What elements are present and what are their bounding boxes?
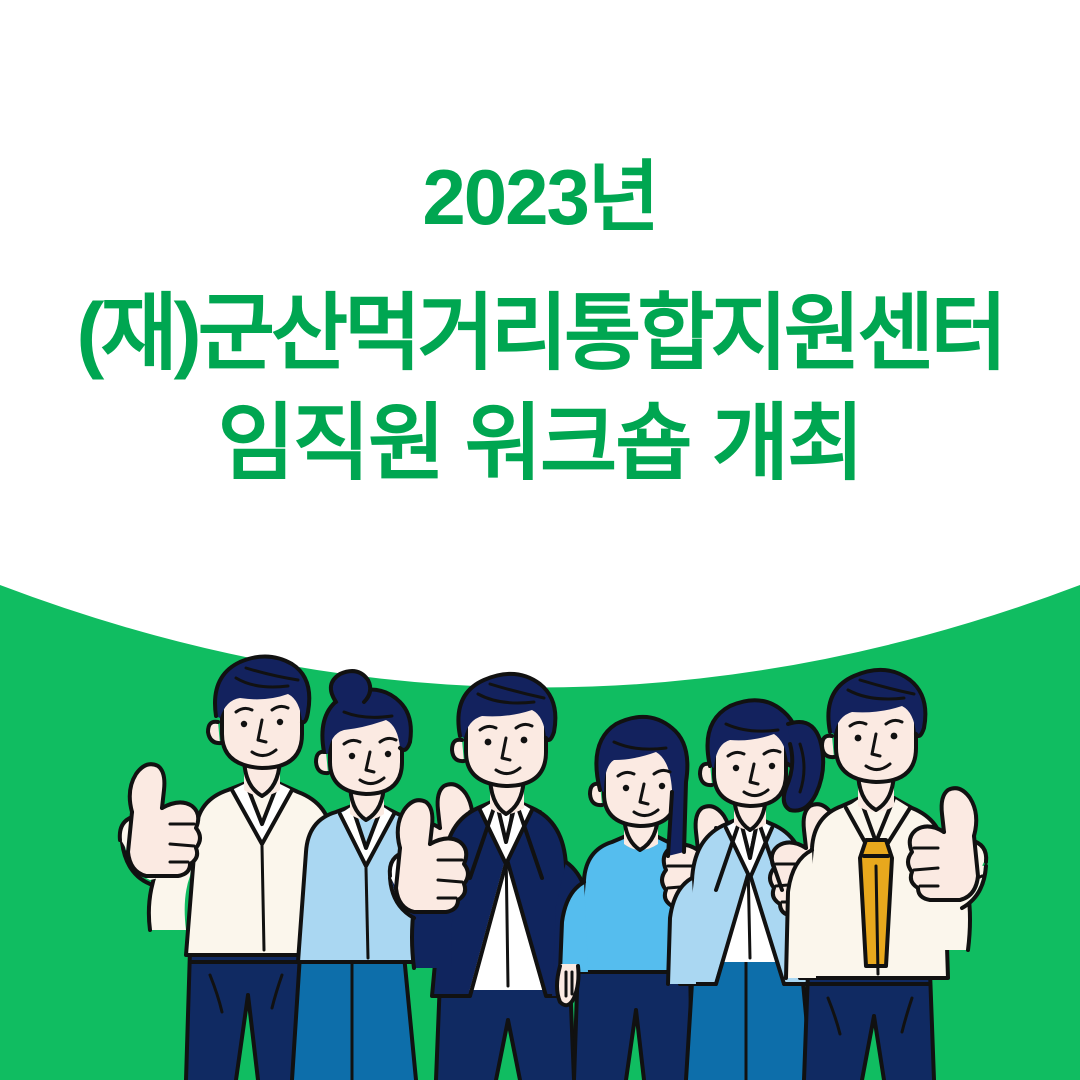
page-title-organization: (재)군산먹거리통합지원센터 (0, 288, 1080, 379)
page-title-event: 임직원 워크숍 개최 (0, 398, 1080, 489)
page-title-year: 2023년 (0, 158, 1080, 236)
figure-person-3 (390, 674, 590, 1080)
poster-canvas: 2023년 (재)군산먹거리통합지원센터 임직원 워크숍 개최 .ol { st… (0, 0, 1080, 1080)
